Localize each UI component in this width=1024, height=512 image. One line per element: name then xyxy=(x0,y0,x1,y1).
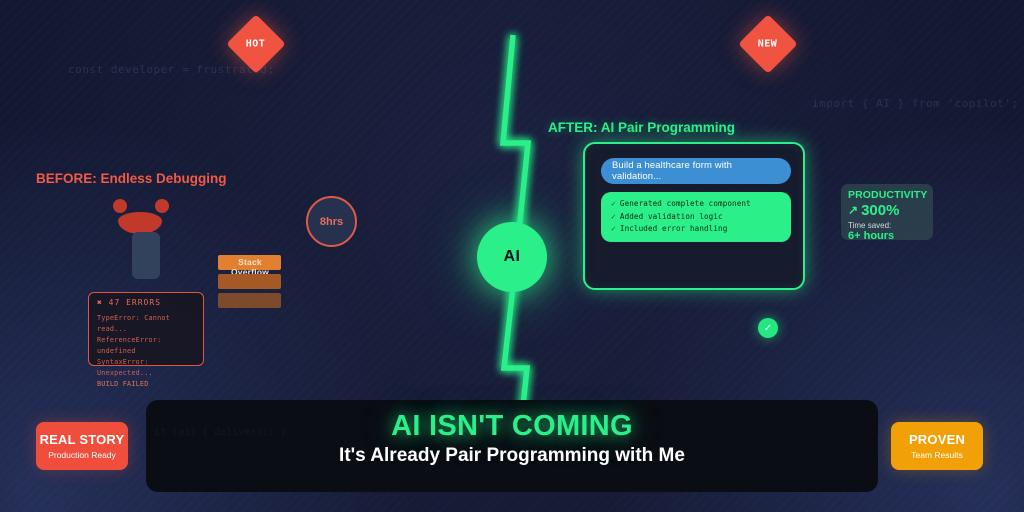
ghost-code-right: import { AI } from 'copilot'; xyxy=(812,97,1019,110)
error-console: ✖ 47 ERRORS TypeError: Cannot read... Re… xyxy=(88,292,204,366)
infographic-canvas: const developer = frustrated; import { A… xyxy=(0,0,1024,512)
badge-real-story-title: REAL STORY xyxy=(40,432,125,447)
hours-spent-label: 8hrs xyxy=(320,216,343,228)
check-icon: ✓ xyxy=(611,198,616,211)
chat-response-text: Added validation logic xyxy=(620,211,723,224)
error-line: ReferenceError: undefined xyxy=(97,335,195,357)
time-saved-value: 6+ hours xyxy=(848,230,926,243)
chat-response-line: ✓ Included error handling xyxy=(611,223,781,236)
chat-response-line: ✓ Generated complete component xyxy=(611,198,781,211)
productivity-badge: PRODUCTIVITY ↗ 300% Time saved: 6+ hours xyxy=(841,184,933,240)
error-count-label: 47 ERRORS xyxy=(109,298,161,307)
chat-response-text: Included error handling xyxy=(620,223,727,236)
chat-prompt-bubble: Build a healthcare form with validation.… xyxy=(601,158,791,184)
dev-eye-left xyxy=(113,199,127,213)
success-check-badge: ✓ xyxy=(758,318,778,338)
ghost-code-left: const developer = frustrated; xyxy=(68,63,275,76)
trend-up-arrow-icon: ↗ xyxy=(848,202,858,219)
ai-core-node: AI xyxy=(477,222,547,292)
time-saved-label: Time saved: xyxy=(848,221,926,230)
badge-proven-title: PROVEN xyxy=(909,432,965,447)
dev-body xyxy=(132,232,160,279)
chat-response-line: ✓ Added validation logic xyxy=(611,211,781,224)
stack-overflow-tab-3 xyxy=(218,293,281,308)
after-section-title: AFTER: AI Pair Programming xyxy=(548,120,735,135)
ai-chat-panel: Build a healthcare form with validation.… xyxy=(583,142,805,290)
chat-prompt-text: Build a healthcare form with validation.… xyxy=(612,160,780,182)
stack-overflow-tab-2 xyxy=(218,274,281,289)
dev-eye-right xyxy=(155,199,169,213)
productivity-value: 300% xyxy=(861,202,899,219)
error-line-build-failed: BUILD FAILED xyxy=(97,379,195,390)
badge-proven: PROVEN Team Results xyxy=(891,422,983,470)
dev-frown-icon xyxy=(118,212,162,234)
badge-new-label: NEW xyxy=(758,39,778,50)
check-icon: ✓ xyxy=(611,211,616,224)
chat-response-bubble: ✓ Generated complete component ✓ Added v… xyxy=(601,192,791,242)
badge-real-story: REAL STORY Production Ready xyxy=(36,422,128,470)
badge-hot-label: HOT xyxy=(246,39,266,50)
check-icon: ✓ xyxy=(764,323,772,334)
error-line: SyntaxError: Unexpected... xyxy=(97,357,195,379)
badge-real-story-subtitle: Production Ready xyxy=(48,450,116,460)
error-console-header: ✖ 47 ERRORS xyxy=(97,298,195,307)
headline-subtitle: It's Already Pair Programming with Me xyxy=(146,445,878,467)
headline-title: AI ISN'T COMING xyxy=(146,410,878,443)
before-section-title: BEFORE: Endless Debugging xyxy=(36,171,227,186)
error-line: TypeError: Cannot read... xyxy=(97,313,195,335)
headline-banner: if (ai) { deliver(); } AI ISN'T COMING I… xyxy=(146,400,878,492)
badge-new: NEW xyxy=(738,14,797,73)
productivity-title: PRODUCTIVITY xyxy=(848,189,926,201)
hours-spent-bubble: 8hrs xyxy=(306,196,357,247)
productivity-value-row: ↗ 300% xyxy=(848,202,926,219)
check-icon: ✓ xyxy=(611,223,616,236)
badge-proven-subtitle: Team Results xyxy=(911,450,963,460)
chat-response-text: Generated complete component xyxy=(620,198,751,211)
ai-core-label: AI xyxy=(504,248,521,266)
x-mark-icon: ✖ xyxy=(97,298,103,307)
